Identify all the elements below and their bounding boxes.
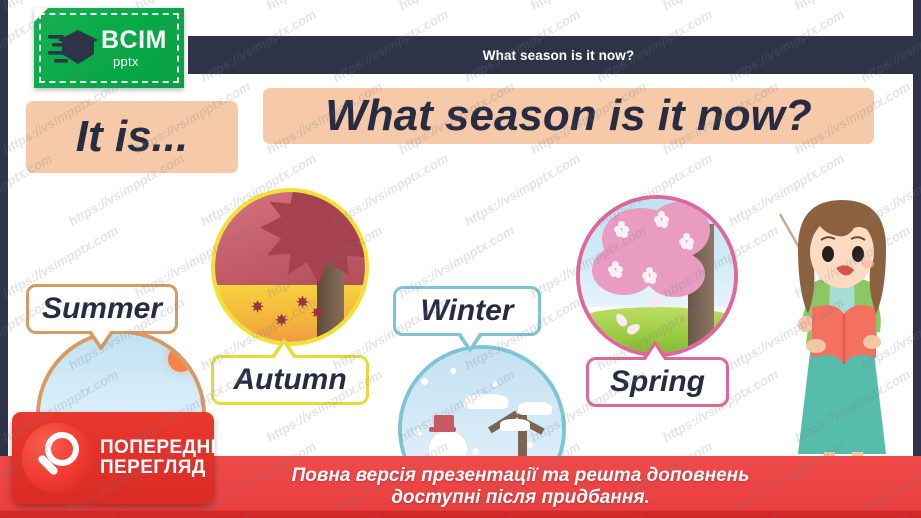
cherry-blossom-icon	[614, 221, 629, 236]
banner-line-1: Повна версія презентації та решта доповн…	[292, 465, 750, 487]
cherry-blossom-icon	[654, 211, 669, 226]
season-label-text: Autumn	[233, 363, 346, 397]
bubble-tail-inner	[645, 346, 665, 361]
logo-subtitle: pptx	[113, 55, 167, 68]
question-box: What season is it now?	[263, 88, 874, 144]
bubble-tail-inner	[460, 332, 480, 347]
teacher-svg	[768, 196, 913, 486]
teacher-illustration	[768, 196, 913, 486]
snowflake-icon	[527, 442, 533, 448]
cherry-blossom-icon	[608, 261, 623, 276]
snowflake-icon	[415, 429, 422, 436]
bcim-logo[interactable]: BCIM pptx	[34, 8, 184, 88]
preview-badge-line-1: ПОПЕРЕДНІЙ	[100, 438, 230, 458]
slide-screenshot: What season is it now? It is... What sea…	[0, 0, 921, 518]
bubble-tail-inner	[91, 330, 111, 345]
prompt-box: It is...	[26, 101, 238, 173]
season-label-text: Summer	[42, 292, 162, 326]
banner-text: Повна версія презентації та решта доповн…	[292, 465, 750, 510]
topbar-title: What season is it now?	[483, 48, 634, 63]
autumn-scene-icon	[211, 188, 369, 346]
snowman-hat-brim-icon	[429, 427, 456, 432]
bubble-tail-inner	[274, 344, 294, 359]
banner-line-2: доступні після придбання.	[292, 487, 750, 509]
snowflake-icon	[421, 378, 428, 385]
season-label-autumn[interactable]: Autumn	[211, 355, 369, 405]
season-label-text: Spring	[610, 365, 705, 399]
season-label-text: Winter	[420, 294, 513, 328]
magnifier-icon	[22, 423, 92, 493]
snow-cap-icon	[500, 419, 530, 431]
season-label-spring[interactable]: Spring	[586, 357, 729, 407]
preview-badge[interactable]: ПОПЕРЕДНІЙ ПЕРЕГЛЯД	[12, 412, 214, 504]
snowflake-icon	[492, 381, 498, 387]
cherry-blossom-icon	[679, 233, 694, 248]
season-label-summer[interactable]: Summer	[26, 284, 178, 334]
prompt-text: It is...	[76, 112, 188, 162]
snow-cap-icon	[464, 394, 508, 409]
graduation-cap-icon	[48, 24, 98, 72]
logo-name: BCIM	[101, 28, 167, 53]
question-text: What season is it now?	[325, 91, 812, 141]
topbar: What season is it now?	[188, 36, 913, 74]
season-label-winter[interactable]: Winter	[393, 286, 541, 336]
spring-scene-icon	[576, 195, 738, 357]
preview-badge-line-2: ПЕРЕГЛЯД	[100, 458, 230, 478]
cherry-blossom-icon	[642, 267, 657, 282]
sun-icon	[168, 346, 194, 372]
snow-cap-icon	[518, 402, 552, 415]
preview-badge-text: ПОПЕРЕДНІЙ ПЕРЕГЛЯД	[100, 438, 230, 478]
